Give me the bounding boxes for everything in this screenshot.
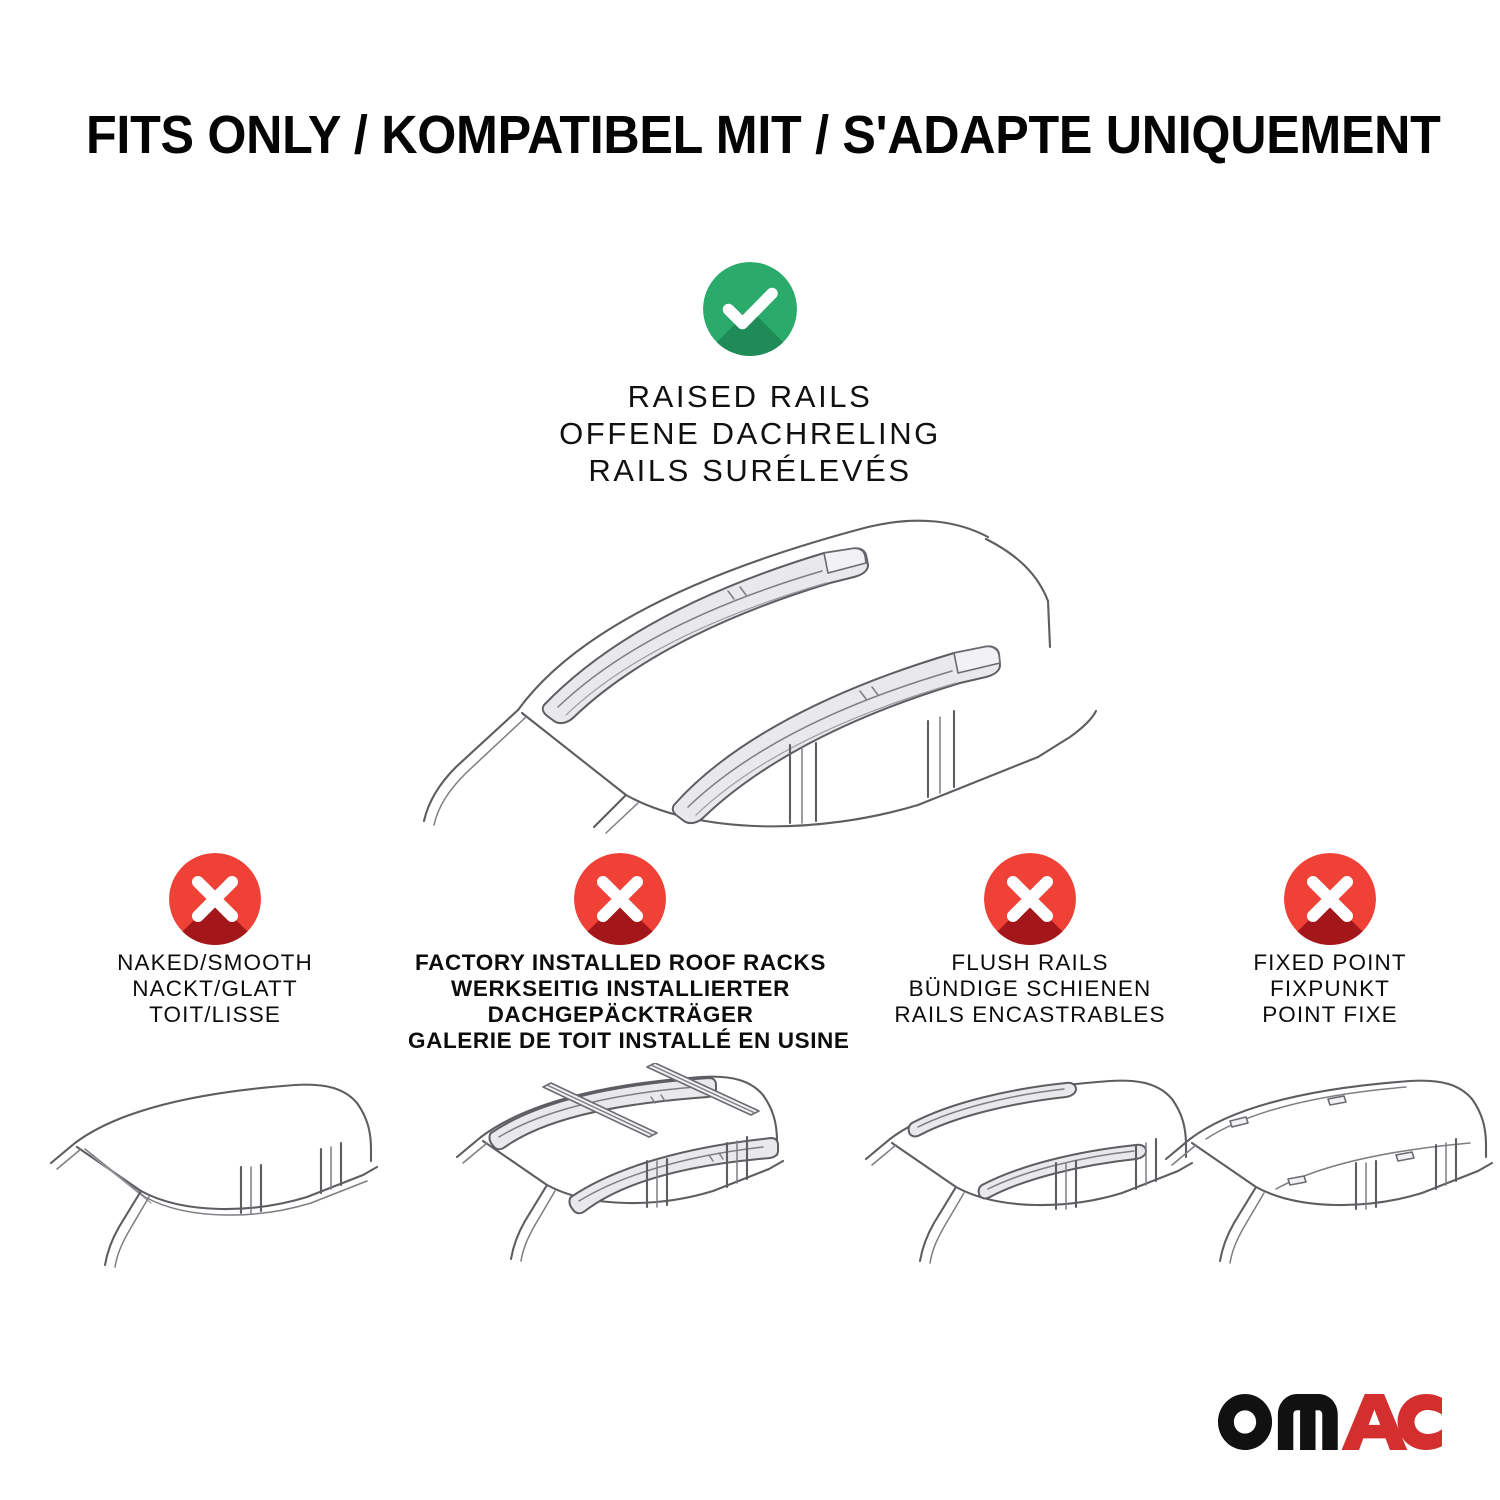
x-circle-icon-wrapper bbox=[984, 853, 1076, 945]
x-circle-icon bbox=[984, 853, 1076, 945]
caption-line: GALERIE DE TOIT INSTALLÉ EN USINE bbox=[408, 1028, 833, 1054]
incompatible-caption: NAKED/SMOOTH NACKT/GLATT TOIT/LISSE bbox=[20, 950, 410, 1028]
car-roof-naked-smooth-illustration bbox=[45, 1063, 385, 1278]
caption-line: FIXED POINT bbox=[1185, 950, 1475, 976]
omac-logo bbox=[1218, 1394, 1442, 1450]
caption-line: POINT FIXE bbox=[1185, 1002, 1475, 1028]
car-roof-flush-rails-illustration bbox=[860, 1063, 1200, 1278]
caption-line: FIXPUNKT bbox=[1185, 976, 1475, 1002]
x-circle-icon bbox=[1284, 853, 1376, 945]
caption-line: FLUSH RAILS bbox=[850, 950, 1210, 976]
caption-line: BÜNDIGE SCHIENEN bbox=[850, 976, 1210, 1002]
x-circle-icon-wrapper bbox=[169, 853, 261, 945]
x-glyph bbox=[169, 853, 261, 945]
compatible-caption: RAISED RAILS OFFENE DACHRELING RAILS SUR… bbox=[450, 378, 1050, 489]
page-title: FITS ONLY / KOMPATIBEL MIT / S'ADAPTE UN… bbox=[86, 104, 1332, 166]
caption-line: FACTORY INSTALLED ROOF RACKS bbox=[408, 950, 833, 976]
caption-line: NAKED/SMOOTH bbox=[20, 950, 410, 976]
x-glyph bbox=[574, 853, 666, 945]
caption-line: RAILS SURÉLEVÉS bbox=[450, 452, 1050, 489]
incompatible-caption: FACTORY INSTALLED ROOF RACKS WERKSEITIG … bbox=[408, 950, 833, 1054]
caption-line: WERKSEITIG INSTALLIERTER bbox=[408, 976, 833, 1002]
x-circle-icon bbox=[574, 853, 666, 945]
x-glyph bbox=[984, 853, 1076, 945]
x-glyph bbox=[1284, 853, 1376, 945]
caption-line: OFFENE DACHRELING bbox=[450, 415, 1050, 452]
incompatible-caption: FIXED POINT FIXPUNKT POINT FIXE bbox=[1185, 950, 1475, 1028]
omac-logo-mark bbox=[1218, 1394, 1442, 1450]
caption-line: RAILS ENCASTRABLES bbox=[850, 1002, 1210, 1028]
incompatible-caption: FLUSH RAILS BÜNDIGE SCHIENEN RAILS ENCAS… bbox=[850, 950, 1210, 1028]
check-circle-icon bbox=[703, 262, 797, 356]
check-glyph bbox=[703, 262, 797, 356]
x-circle-icon-wrapper bbox=[574, 853, 666, 945]
caption-line: NACKT/GLATT bbox=[20, 976, 410, 1002]
caption-line: RAISED RAILS bbox=[450, 378, 1050, 415]
caption-line: TOIT/LISSE bbox=[20, 1002, 410, 1028]
x-circle-icon-wrapper bbox=[1284, 853, 1376, 945]
car-roof-fixed-point-illustration bbox=[1160, 1063, 1500, 1278]
car-roof-factory-installed-roof-racks-illustration bbox=[451, 1063, 791, 1278]
x-circle-icon bbox=[169, 853, 261, 945]
car-roof-with-raised-rails-illustration bbox=[398, 505, 1102, 835]
caption-line: DACHGEPÄCKTRÄGER bbox=[408, 1002, 833, 1028]
